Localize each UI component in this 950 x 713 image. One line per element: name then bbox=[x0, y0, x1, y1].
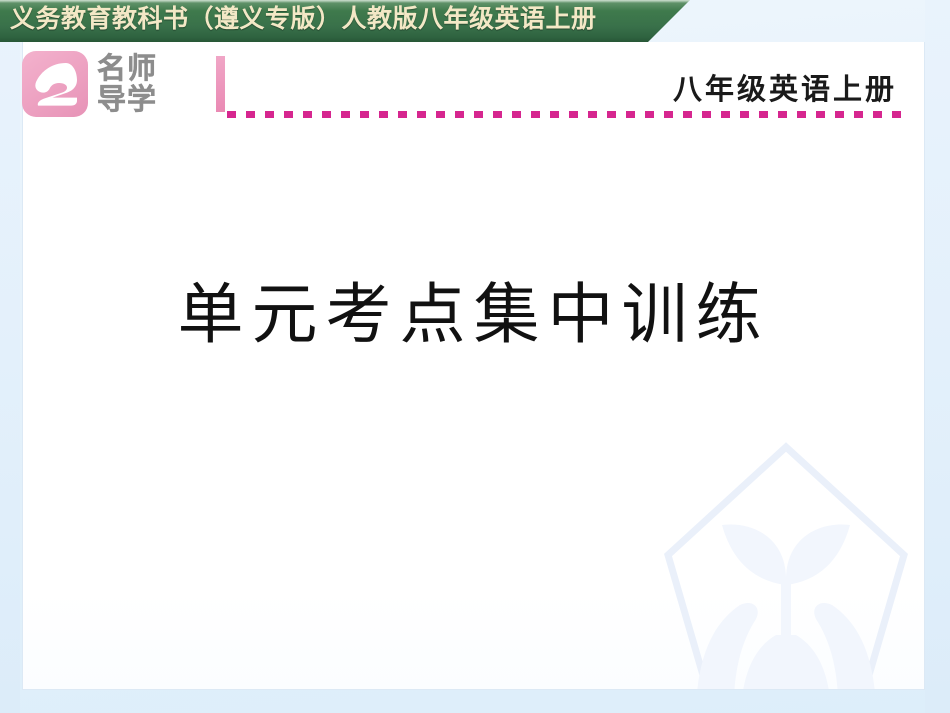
page-header: 名师 导学 八年级英语上册 bbox=[22, 42, 925, 124]
subject-label: 八年级英语上册 bbox=[673, 66, 897, 108]
dashed-divider bbox=[227, 111, 903, 118]
right-gutter bbox=[925, 0, 950, 713]
brand-name-line-1: 名师 bbox=[97, 53, 157, 84]
pink-accent-bar bbox=[216, 56, 225, 112]
banner-title-text: 义务教育教科书（遵义专版）人教版八年级英语上册 bbox=[10, 0, 597, 42]
brand-name: 名师 导学 bbox=[97, 51, 157, 117]
slide-root: 义务教育教科书（遵义专版）人教版八年级英语上册 名师 导学 八年级英语上册 单元… bbox=[0, 0, 950, 713]
page-title: 单元考点集中训练 bbox=[22, 270, 925, 360]
brand-name-line-2: 导学 bbox=[97, 84, 157, 115]
textbook-banner: 义务教育教科书（遵义专版）人教版八年级英语上册 bbox=[0, 0, 690, 42]
book-ribbon-logo-icon bbox=[22, 51, 88, 117]
left-gutter bbox=[0, 0, 20, 713]
brand-lockup: 名师 导学 bbox=[22, 49, 157, 119]
hands-holding-sprout-watermark-icon bbox=[636, 429, 925, 690]
content-page bbox=[22, 42, 925, 690]
